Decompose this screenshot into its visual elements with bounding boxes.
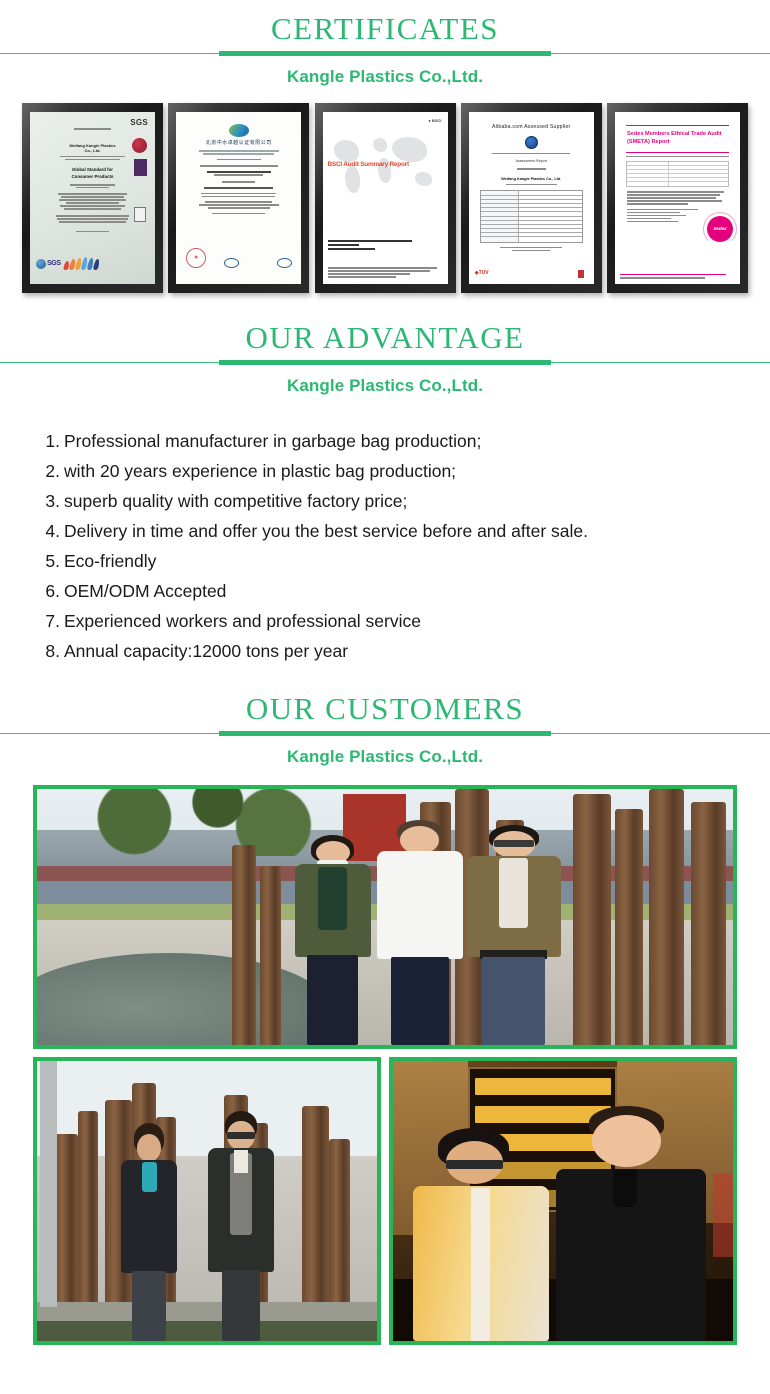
list-item-label: Eco-friendly [64,551,156,571]
certificate-sheet: SGS Weifang Kangle PlasticsCo., Ltd. Glo… [30,112,155,284]
divider-thick-bar [219,360,551,365]
sgs-logo-icon: SGS [130,117,148,129]
list-item: 7.Experienced workers and professional s… [38,606,742,636]
list-item: 4.Delivery in time and offer you the bes… [38,516,742,546]
list-item-label: superb quality with competitive factory … [64,491,407,511]
list-item: 5.Eco-friendly [38,546,742,576]
list-item-number: 5. [38,546,60,576]
person-figure [207,1111,275,1341]
certification-body-logo-icon [229,124,249,137]
person-figure [288,835,378,1045]
divider-line [626,152,729,153]
person-figure [119,1123,180,1341]
cnas-accreditation-icon [224,258,239,268]
photo-scene [37,789,733,1045]
customer-photo-row [33,1057,737,1345]
advantage-list: 1.Professional manufacturer in garbage b… [0,426,770,666]
partner-logo-icon: ◆TUV [475,270,489,277]
customers-section-header: OUR CUSTOMERS Kangle Plastics Co.,Ltd. [0,666,770,769]
list-item-label: Professional manufacturer in garbage bag… [64,431,481,451]
person-figure [413,1128,549,1341]
advantage-section-header: OUR ADVANTAGE Kangle Plastics Co.,Ltd. [0,293,770,398]
list-item-label: OEM/ODM Accepted [64,581,226,601]
customer-photo-group-outdoor[interactable] [33,785,737,1049]
photo-scene [393,1061,733,1341]
page-title: CERTIFICATES [0,10,770,48]
certificates-subtitle: Kangle Plastics Co.,Ltd. [0,65,770,89]
list-item-label: with 20 years experience in plastic bag … [64,461,456,481]
iaf-accreditation-icon [277,258,292,268]
photo-scene [37,1061,377,1341]
sgs-ribbon-icon [64,257,99,270]
customers-subtitle: Kangle Plastics Co.,Ltd. [0,745,770,769]
advantage-subtitle: Kangle Plastics Co.,Ltd. [0,374,770,398]
title-divider [0,729,770,738]
title-divider [0,358,770,367]
customers-title: OUR CUSTOMERS [0,690,770,728]
seal-icon [578,270,584,278]
certificate-company-name-cn: 北京中水卓越认证有限公司 [183,140,294,147]
globe-icon [36,259,46,269]
list-item-number: 1. [38,426,60,456]
certificate-sheet: 北京中水卓越认证有限公司 [176,112,301,284]
list-item-label: Experienced workers and professional ser… [64,611,421,631]
sgs-accreditation-mark-icon [134,207,146,222]
customer-photo-pair-indoor[interactable] [389,1057,737,1345]
certificate-sgs-global-standard[interactable]: SGS Weifang Kangle PlasticsCo., Ltd. Glo… [22,103,163,293]
certificate-title: Sedex Members Ethical Trade Audit (SMETA… [627,131,728,147]
sedex-logo-icon [707,216,733,242]
official-stamp-icon [186,248,206,268]
list-item-number: 7. [38,606,60,636]
audit-details-table [626,161,729,187]
list-item-label: Delivery in time and offer you the best … [64,521,588,541]
certificate-sheet: ● BSCI BSCI Audit Summary Report [323,112,448,284]
list-item-label: Annual capacity:12000 tons per year [64,641,348,661]
list-item: 6.OEM/ODM Accepted [38,576,742,606]
certificate-bsci-audit-summary[interactable]: ● BSCI BSCI Audit Summary Report [315,103,456,293]
list-item-number: 8. [38,636,60,666]
list-item-number: 6. [38,576,60,606]
list-item: 1.Professional manufacturer in garbage b… [38,426,742,456]
list-item: 2.with 20 years experience in plastic ba… [38,456,742,486]
list-item-number: 4. [38,516,60,546]
certificate-iso-quality-management[interactable]: 北京中水卓越认证有限公司 [168,103,309,293]
certificates-gallery: SGS Weifang Kangle PlasticsCo., Ltd. Glo… [0,103,770,293]
person-figure [462,825,566,1045]
customers-photo-gallery [0,785,770,1345]
divider-line [626,125,729,126]
certificate-title: Alibaba.com Assessed Supplier [476,124,587,132]
person-figure [371,820,468,1045]
sgs-seal-icon [132,138,147,153]
sgs-wordmark: SGS [47,259,61,269]
list-item-number: 3. [38,486,60,516]
list-item: 3.superb quality with competitive factor… [38,486,742,516]
sgs-certification-mark-icon [134,159,147,176]
list-item-number: 2. [38,456,60,486]
certificates-section-header: CERTIFICATES Kangle Plastics Co.,Ltd. [0,0,770,89]
title-divider [0,49,770,58]
certificate-alibaba-assessed-supplier[interactable]: Alibaba.com Assessed Supplier Assessment… [461,103,602,293]
divider-thick-bar [219,731,551,736]
person-figure [556,1106,706,1341]
divider-thick-bar [219,51,551,56]
certificate-title: BSCI Audit Summary Report [328,160,443,169]
customer-photo-pair-outdoor[interactable] [33,1057,381,1345]
bsci-logo-icon: ● BSCI [428,118,441,124]
certificate-sheet: Alibaba.com Assessed Supplier Assessment… [469,112,594,284]
certificate-sheet: Sedex Members Ethical Trade Audit (SMETA… [615,112,740,284]
certificate-sedex-smeta-report[interactable]: Sedex Members Ethical Trade Audit (SMETA… [607,103,748,293]
list-item: 8.Annual capacity:12000 tons per year [38,636,742,666]
advantage-title: OUR ADVANTAGE [0,319,770,357]
certificate-company-name: Weifang Kangle Plastics Co., Ltd. [476,177,587,183]
certificate-standard-name: Global Standard forConsumer Products [37,167,148,180]
assessment-data-table [480,190,583,242]
verified-badge-icon [525,136,538,149]
certificate-subtitle: Assessment Report [476,159,587,164]
